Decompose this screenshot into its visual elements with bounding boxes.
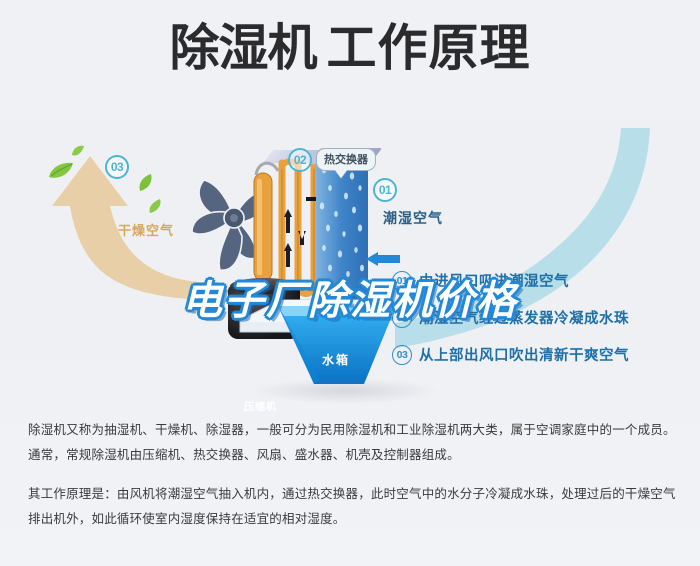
title-part-1: 除湿机 bbox=[170, 19, 317, 77]
page-title: 除湿机工作原理 bbox=[0, 22, 700, 75]
water-tank-label: 水箱 bbox=[322, 351, 350, 368]
badge-03: 03 bbox=[105, 155, 129, 179]
leaf-icon bbox=[48, 162, 74, 185]
infographic-page: 除湿机工作原理 干燥空气 bbox=[0, 0, 700, 566]
paragraph-2: 其工作原理是：由风机将潮湿空气抽入机内，通过热交换器，此时空气中的水分子冷凝成水… bbox=[28, 482, 678, 532]
humid-air-label: 潮湿空气 bbox=[383, 208, 443, 228]
step-text: 由进风口吸进潮湿空气 bbox=[419, 270, 569, 291]
leaf-icon bbox=[148, 198, 162, 219]
step-number: 03 bbox=[392, 345, 412, 365]
diagram-illustration: 干燥空气 bbox=[0, 110, 700, 410]
step-number: 02 bbox=[392, 308, 412, 328]
intake-arrow-icon bbox=[366, 252, 400, 266]
step-text: 潮湿空气经过蒸发器冷凝成水珠 bbox=[419, 307, 629, 328]
list-item: 01 由进风口吸进潮湿空气 bbox=[392, 270, 692, 291]
evaporator-panel bbox=[316, 158, 372, 308]
leaf-icon bbox=[137, 172, 153, 197]
compressor-label: 压缩机 bbox=[244, 398, 277, 413]
leaf-icon bbox=[71, 144, 85, 162]
badge-01: 01 bbox=[373, 178, 397, 202]
step-text: 从上部出风口吹出清新干爽空气 bbox=[419, 344, 629, 365]
badge-02: 02 bbox=[288, 148, 312, 172]
tank-shadow bbox=[250, 378, 440, 404]
body-copy: 除湿机又称为抽湿机、干燥机、除湿器，一般可分为民用除湿机和工业除湿机两大类，属于… bbox=[28, 418, 678, 532]
steps-list: 01 由进风口吸进潮湿空气 02 潮湿空气经过蒸发器冷凝成水珠 03 从上部出风… bbox=[392, 270, 692, 381]
paragraph-1: 除湿机又称为抽湿机、干燥机、除湿器，一般可分为民用除湿机和工业除湿机两大类，属于… bbox=[28, 418, 678, 468]
dry-air-label: 干燥空气 bbox=[118, 220, 174, 239]
list-item: 03 从上部出风口吹出清新干爽空气 bbox=[392, 344, 692, 365]
list-item: 02 潮湿空气经过蒸发器冷凝成水珠 bbox=[392, 307, 692, 328]
title-part-2: 工作原理 bbox=[327, 19, 531, 77]
step-number: 01 bbox=[392, 271, 412, 291]
heat-exchanger-callout: 热交换器 bbox=[316, 148, 376, 171]
